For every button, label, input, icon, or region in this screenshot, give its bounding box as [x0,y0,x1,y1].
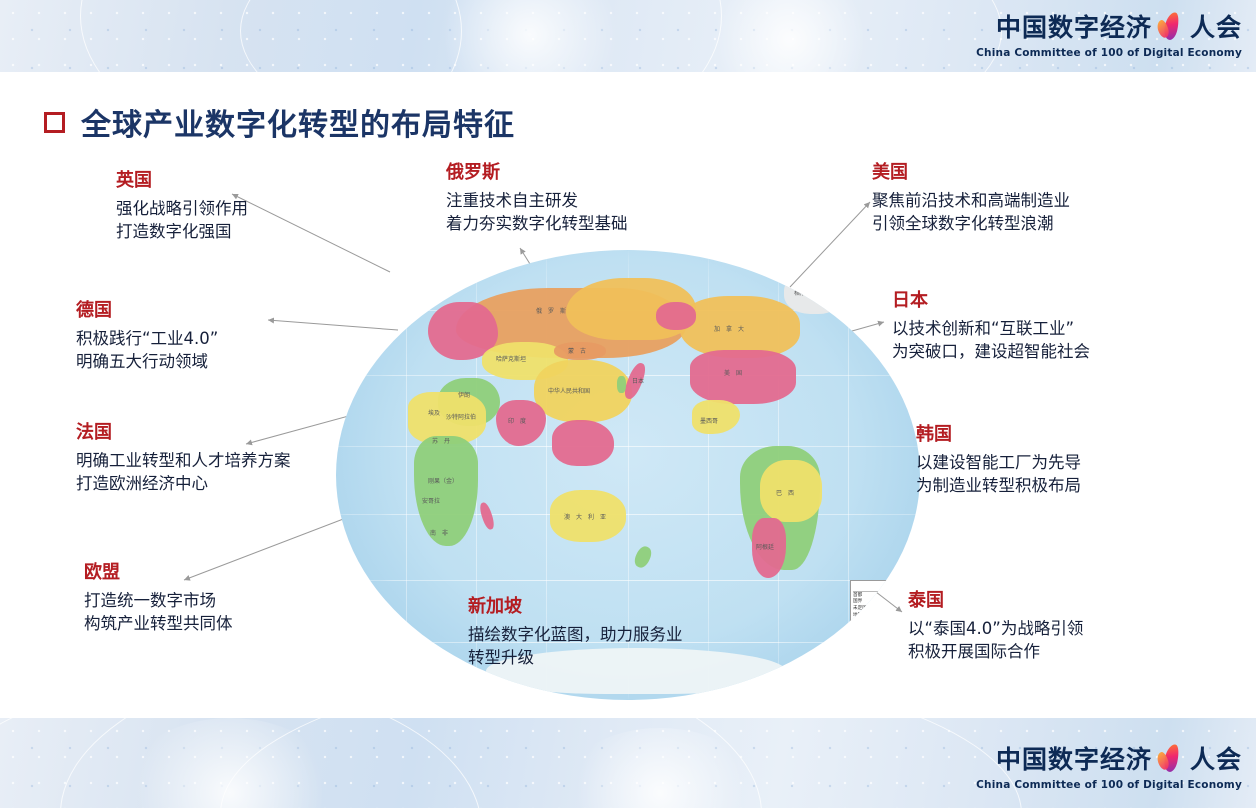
annotation-heading: 日本 [892,290,1222,313]
top-banner: 中国数字经济 人会 China Committee of 100 of Digi… [0,0,1256,72]
annotation-body: 积极践行“工业4.0” 明确五大行动领域 [76,327,336,375]
annotation-heading: 泰国 [908,590,1208,613]
bottom-banner: 中国数字经济 人会 China Committee of 100 of Digi… [0,718,1256,808]
annotation-heading: 德国 [76,300,336,323]
map-label: 巴 西 [776,488,794,497]
slide-root: 中国数字经济 人会 China Committee of 100 of Digi… [0,0,1256,808]
landmass-alaska [656,302,696,330]
annotation-body: 注重技术自主研发 着力夯实数字化转型基础 [446,189,736,237]
map-label: 日本 [632,376,644,385]
map-label: 加 拿 大 [714,324,744,333]
map-label: 伊朗 [458,390,470,399]
map-label: 沙特阿拉伯 [446,412,476,421]
landmass-usa [690,350,796,404]
annotation-heading: 美国 [872,162,1202,185]
flame-mark-icon [1156,744,1186,774]
decorative-glow [430,0,630,72]
flame-mark-icon [1156,12,1186,42]
annotation-body: 描绘数字化蓝图，助力服务业 转型升级 [468,623,788,671]
annotation-body: 强化战略引领作用 打造数字化强国 [116,197,366,245]
annotation-france: 法国 明确工业转型和人才培养方案 打造欧洲经济中心 [76,422,376,496]
map-label: 俄 罗 斯 [536,306,566,315]
annotation-heading: 韩国 [916,424,1216,447]
annotation-korea: 韩国 以建设智能工厂为先导 为制造业转型积极布局 [916,424,1216,498]
page-title: 全球产业数字化转型的布局特征 [81,100,515,144]
map-label: 蒙 古 [568,346,586,355]
annotation-japan: 日本 以技术创新和“互联工业” 为突破口，建设超智能社会 [892,290,1222,364]
annotation-uk: 英国 强化战略引领作用 打造数字化强国 [116,170,366,244]
slide-body: 全球产业数字化转型的布局特征 [0,72,1256,718]
map-label: 安哥拉 [422,496,440,505]
map-label: 哈萨克斯坦 [496,354,526,363]
annotation-usa: 美国 聚焦前沿技术和高端制造业 引领全球数字化转型浪潮 [872,162,1202,236]
annotation-body: 以建设智能工厂为先导 为制造业转型积极布局 [916,451,1216,499]
map-label: 埃及 [428,408,440,417]
map-label: 印 度 [508,416,526,425]
brand-name-cn-row: 中国数字经济 人会 [996,744,1242,774]
brand-name-cn: 中国数字经济 [996,15,1152,40]
annotation-germany: 德国 积极践行“工业4.0” 明确五大行动领域 [76,300,336,374]
slide-title-row: 全球产业数字化转型的布局特征 [44,100,515,144]
annotation-heading: 英国 [116,170,366,193]
map-label: 澳 大 利 亚 [564,512,606,521]
brand-name-cn: 中国数字经济 [996,747,1152,772]
landmass-southeast-asia [552,420,614,466]
landmass-korea [617,376,626,393]
map-label: 美 国 [724,368,742,377]
brand-logo: 中国数字经济 人会 China Committee of 100 of Digi… [976,12,1242,59]
annotation-body: 以技术创新和“互联工业” 为突破口，建设超智能社会 [892,317,1222,365]
brand-name-en: China Committee of 100 of Digital Econom… [976,47,1242,59]
annotation-body: 以“泰国4.0”为战略引领 积极开展国际合作 [908,617,1208,665]
annotation-body: 打造统一数字市场 构筑产业转型共同体 [84,589,364,637]
landmass-new-zealand [632,544,654,570]
annotation-heading: 新加坡 [468,596,788,619]
brand-name-cn-row: 中国数字经济 人会 [996,12,1242,42]
map-label: 墨西哥 [700,416,718,425]
brand-logo-footer: 中国数字经济 人会 China Committee of 100 of Digi… [976,744,1242,791]
landmass-greenland [784,272,842,314]
map-label: 南 非 [430,528,448,537]
annotation-heading: 欧盟 [84,562,364,585]
map-label: 苏 丹 [432,436,450,445]
decorative-glow [700,0,880,72]
map-label: 阿根廷 [756,542,774,551]
map-label: 中华人民共和国 [548,386,590,395]
annotation-heading: 俄罗斯 [446,162,736,185]
annotation-eu: 欧盟 打造统一数字市场 构筑产业转型共同体 [84,562,364,636]
map-label: 刚果（金） [428,476,458,485]
annotation-thailand: 泰国 以“泰国4.0”为战略引领 积极开展国际合作 [908,590,1208,664]
brand-name-cn-tail: 人会 [1190,15,1242,40]
annotation-heading: 法国 [76,422,376,445]
annotation-russia: 俄罗斯 注重技术自主研发 着力夯实数字化转型基础 [446,162,736,236]
annotation-body: 聚焦前沿技术和高端制造业 引领全球数字化转型浪潮 [872,189,1202,237]
annotation-singapore: 新加坡 描绘数字化蓝图，助力服务业 转型升级 [468,596,788,670]
map-label: 格陵兰 [794,288,812,297]
brand-name-cn-tail: 人会 [1190,747,1242,772]
landmass-madagascar [478,501,496,531]
annotation-body: 明确工业转型和人才培养方案 打造欧洲经济中心 [76,449,376,497]
square-bullet-icon [44,112,65,133]
brand-name-en: China Committee of 100 of Digital Econom… [976,779,1242,791]
